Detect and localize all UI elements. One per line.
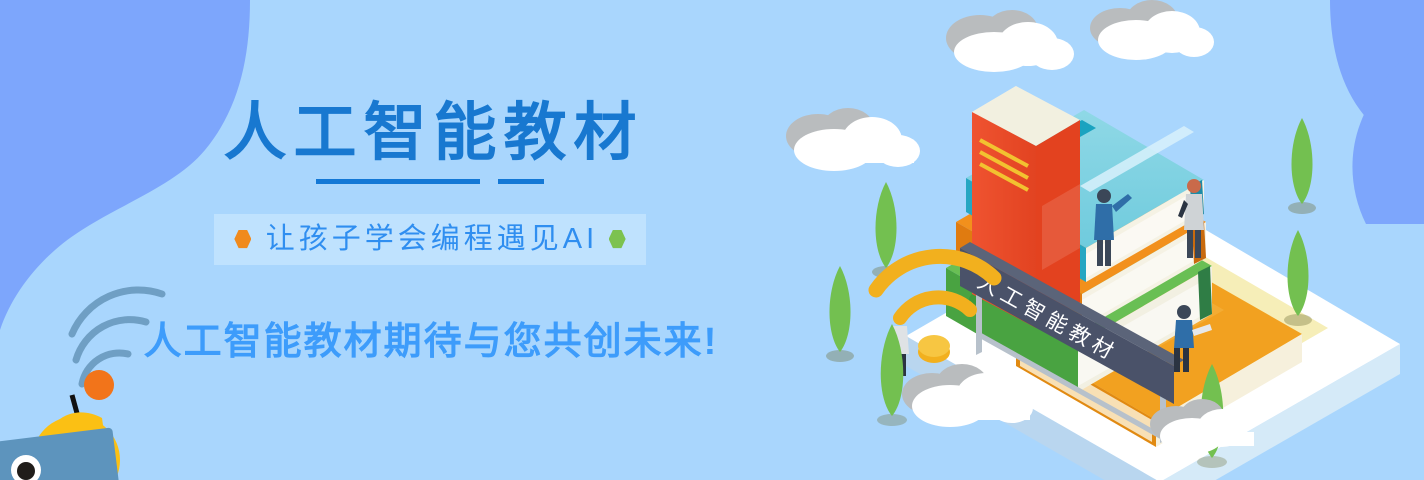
divider-long-bar xyxy=(316,179,480,184)
tree-icon xyxy=(826,266,854,362)
signal-arcs-icon xyxy=(72,290,162,384)
subtitle-box: 让孩子学会编程遇见AI xyxy=(214,214,645,265)
promo-banner: 人工智能教材 让孩子学会编程遇见AI 人工智能教材期待与您共创未来! xyxy=(0,0,1424,480)
hexagon-orange-icon xyxy=(234,230,251,249)
page-title: 人工智能教材 xyxy=(0,96,860,170)
ai-robot-mascot xyxy=(0,250,220,480)
cloud-icon xyxy=(786,108,920,171)
antenna-tip-icon xyxy=(84,370,114,400)
tree-icon xyxy=(1288,118,1316,214)
divider-gap xyxy=(480,176,498,181)
title-divider xyxy=(0,176,860,184)
isometric-illustration: 人工智能教材 xyxy=(780,0,1424,480)
subtitle-text: 让孩子学会编程遇见AI xyxy=(262,222,598,256)
cloud-icon xyxy=(1090,0,1214,60)
divider-short-bar xyxy=(498,179,544,184)
cloud-icon xyxy=(946,10,1074,72)
hexagon-green-icon xyxy=(609,230,626,249)
